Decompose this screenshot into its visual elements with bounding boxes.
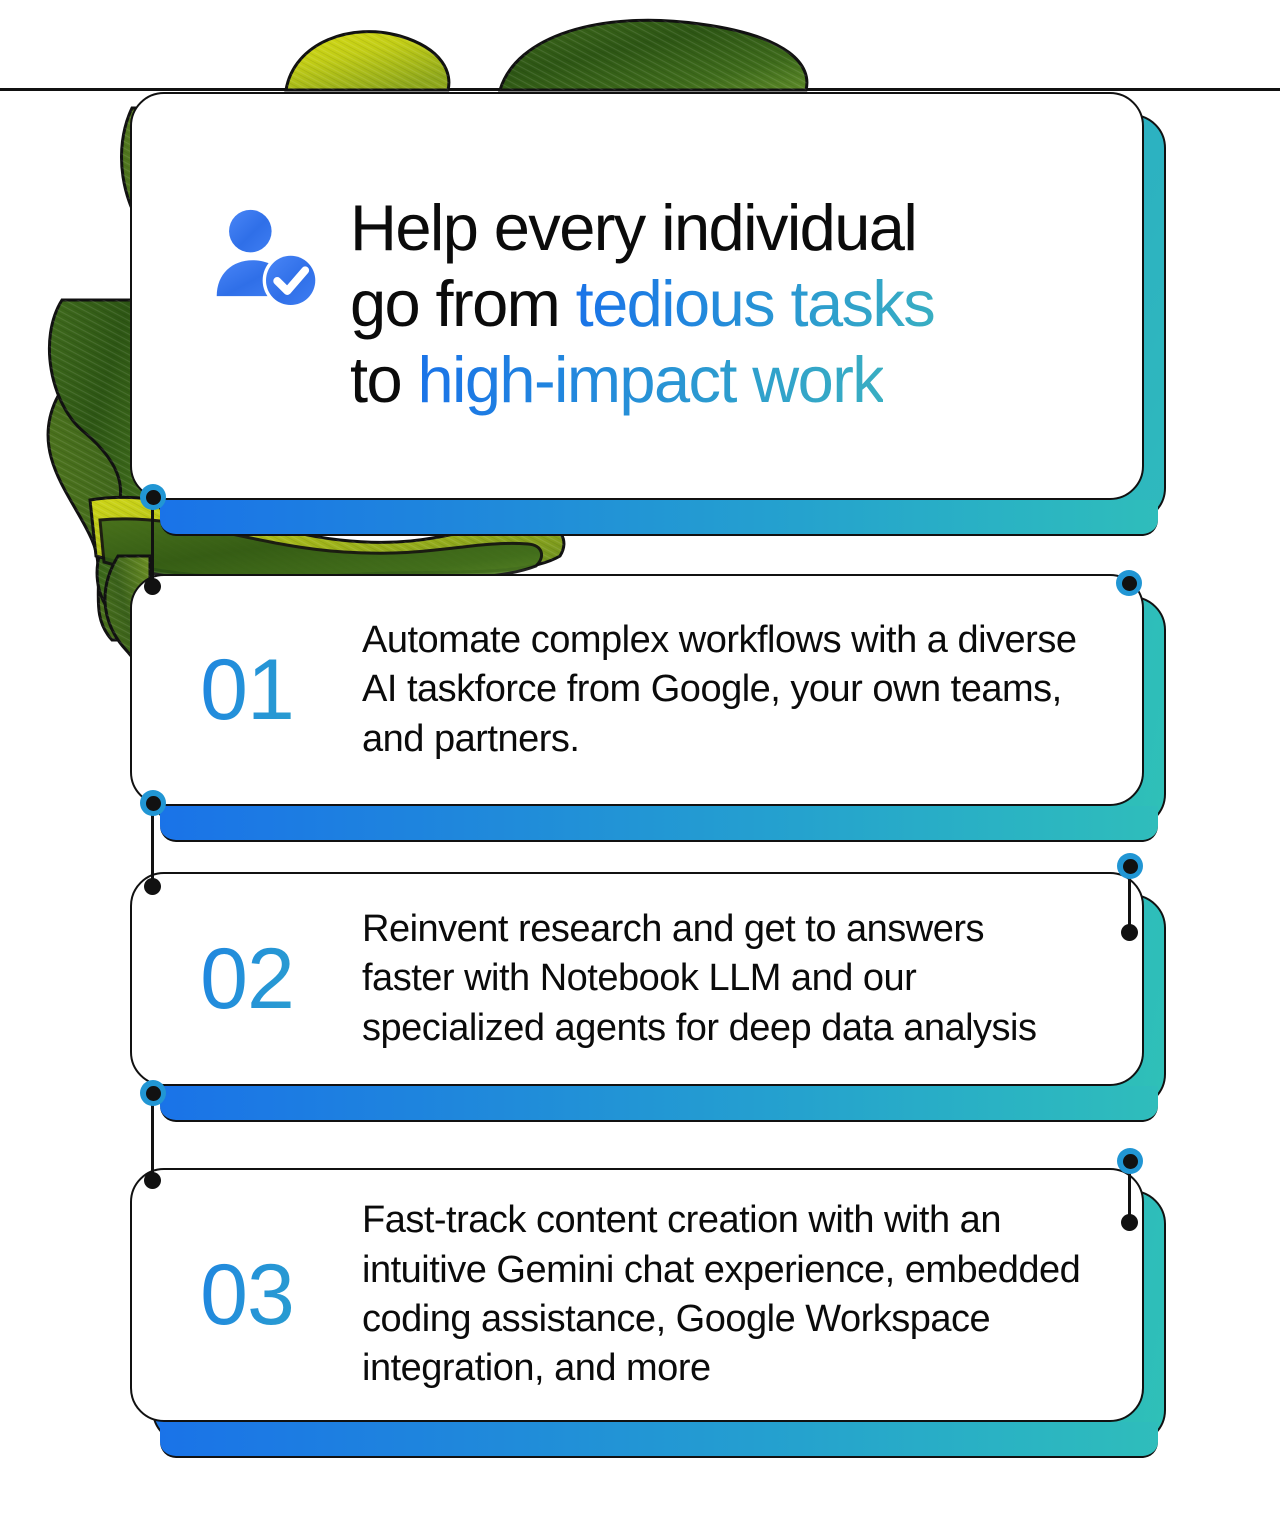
header-line1: Help every individual <box>350 191 916 264</box>
numbered-card-03: 03 Fast-track content creation with with… <box>130 1168 1144 1422</box>
card-02-text: Reinvent research and get to answers fas… <box>362 905 1142 1053</box>
header-title: Help every individual go from tedious ta… <box>350 190 934 418</box>
card-03-face: 03 Fast-track content creation with with… <box>130 1168 1144 1422</box>
card-01-number: 01 <box>132 647 362 733</box>
header-line3-blue: high-impact work <box>417 343 883 416</box>
card-02-face: 02 Reinvent research and get to answers … <box>130 872 1144 1086</box>
card-stack: Help every individual go from tedious ta… <box>0 0 1280 1536</box>
card-02-strip <box>160 1086 1158 1122</box>
header-card: Help every individual go from tedious ta… <box>130 92 1144 500</box>
card-01-text: Automate complex workflows with a divers… <box>362 616 1142 764</box>
header-line3-black: to <box>350 343 417 416</box>
card-03-text: Fast-track content creation with with an… <box>362 1196 1142 1394</box>
card-03-strip <box>160 1422 1158 1458</box>
card-01-strip <box>160 806 1158 842</box>
person-verified-icon <box>210 202 322 314</box>
header-line2-blue: tedious tasks <box>576 267 935 340</box>
header-card-strip <box>160 500 1158 536</box>
header-line2-black: go from <box>350 267 576 340</box>
card-03-number: 03 <box>132 1252 362 1338</box>
card-02-number: 02 <box>132 936 362 1022</box>
header-card-face: Help every individual go from tedious ta… <box>130 92 1144 500</box>
card-01-face: 01 Automate complex workflows with a div… <box>130 574 1144 806</box>
numbered-card-01: 01 Automate complex workflows with a div… <box>130 574 1144 806</box>
numbered-card-02: 02 Reinvent research and get to answers … <box>130 872 1144 1086</box>
